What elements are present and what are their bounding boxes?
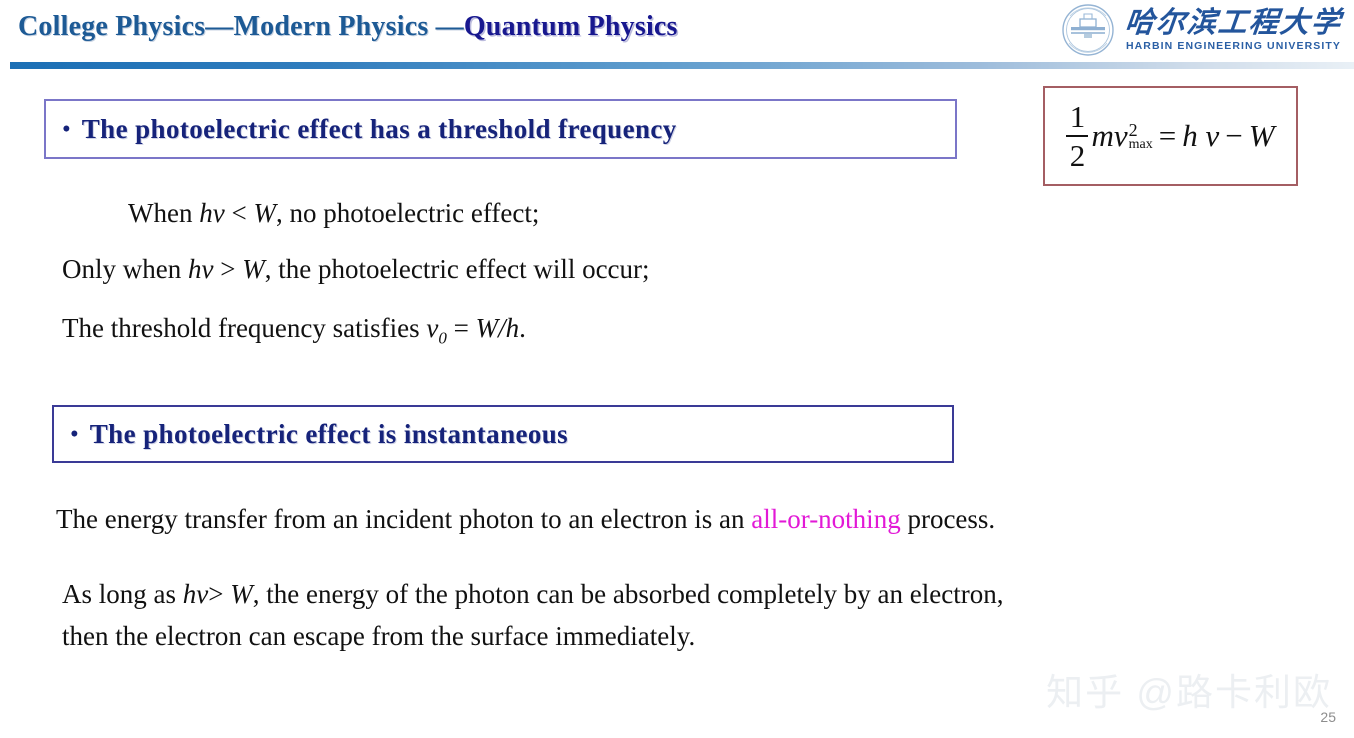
formula-content: 1 2 mv2max = h ν − W bbox=[1066, 101, 1274, 171]
threshold-symbol-w: W bbox=[476, 313, 499, 343]
symbol-mass: m bbox=[1091, 118, 1113, 154]
heading-box-instantaneous: • The photoelectric effect is instantane… bbox=[52, 405, 954, 463]
bullet-icon: • bbox=[70, 422, 79, 447]
heading-box-threshold-frequency: • The photoelectric effect has a thresho… bbox=[44, 99, 957, 159]
symbol-nu: ν bbox=[1205, 118, 1219, 154]
when-symbol-w: W bbox=[253, 198, 276, 228]
header-divider bbox=[10, 62, 1354, 69]
university-name-cn: 哈尔滨工程大学 bbox=[1123, 8, 1343, 38]
bullet-icon: • bbox=[62, 117, 71, 142]
threshold-suffix: . bbox=[519, 313, 526, 343]
threshold-symbol-h: h bbox=[506, 313, 520, 343]
paragraph-absorption-line-2: then the electron can escape from the su… bbox=[62, 620, 695, 652]
velocity-script-group: 2max bbox=[1129, 121, 1153, 152]
page-title: College Physics—Modern Physics —Quantum … bbox=[18, 11, 678, 43]
zhihu-watermark: 知乎 @路卡利欧 bbox=[1046, 662, 1332, 716]
fraction-denominator: 2 bbox=[1070, 139, 1086, 171]
threshold-subscript-zero: 0 bbox=[438, 328, 447, 347]
text-line-when-below-threshold: When hν < W, no photoelectric effect; bbox=[128, 197, 539, 229]
threshold-slash: / bbox=[498, 313, 506, 343]
onlywhen-relation: > bbox=[213, 254, 242, 284]
when-prefix: When bbox=[128, 198, 199, 228]
para2-symbol-nu: ν bbox=[196, 579, 208, 609]
paragraph-energy-transfer: The energy transfer from an incident pho… bbox=[56, 503, 995, 535]
university-logo: 哈尔滨工程大学 HARBIN ENGINEERING UNIVERSITY bbox=[1060, 2, 1342, 58]
para2-suffix: , the energy of the photon can be absorb… bbox=[253, 579, 1004, 609]
threshold-symbol-nu: ν bbox=[426, 313, 438, 343]
page-number: 25 bbox=[1320, 709, 1336, 725]
when-suffix: , no photoelectric effect; bbox=[276, 198, 539, 228]
fraction-bar bbox=[1066, 135, 1088, 137]
when-symbol-nu: ν bbox=[213, 198, 225, 228]
minus-sign: − bbox=[1225, 118, 1242, 154]
onlywhen-prefix: Only when bbox=[62, 254, 188, 284]
university-seal-icon bbox=[1060, 2, 1116, 58]
page-title-accent: Quantum Physics bbox=[464, 11, 678, 42]
university-name-en: HARBIN ENGINEERING UNIVERSITY bbox=[1126, 40, 1341, 52]
onlywhen-symbol-h: h bbox=[188, 254, 202, 284]
formula-box-photoelectric-equation: 1 2 mv2max = h ν − W bbox=[1043, 86, 1298, 186]
para2-prefix: As long as bbox=[62, 579, 183, 609]
slide-header: College Physics—Modern Physics —Quantum … bbox=[0, 0, 1354, 66]
onlywhen-symbol-nu: ν bbox=[201, 254, 213, 284]
threshold-prefix: The threshold frequency satisfies bbox=[62, 313, 426, 343]
heading-box-2-label: The photoelectric effect is instantaneou… bbox=[90, 419, 568, 450]
symbol-velocity: v bbox=[1114, 118, 1128, 154]
when-relation: < bbox=[225, 198, 254, 228]
text-line-threshold-definition: The threshold frequency satisfies ν0 = W… bbox=[62, 312, 526, 349]
equals-sign: = bbox=[1159, 118, 1176, 154]
text-line-only-when-above-threshold: Only when hν > W, the photoelectric effe… bbox=[62, 253, 650, 285]
when-symbol-h: h bbox=[199, 198, 213, 228]
para1-suffix: process. bbox=[901, 504, 995, 534]
fraction-one-half: 1 2 bbox=[1066, 101, 1088, 171]
page-title-primary: College Physics—Modern Physics — bbox=[18, 11, 464, 42]
velocity-exponent: 2 bbox=[1129, 121, 1153, 139]
symbol-work-function: W bbox=[1249, 118, 1275, 154]
threshold-equals: = bbox=[447, 313, 476, 343]
university-logo-text: 哈尔滨工程大学 HARBIN ENGINEERING UNIVERSITY bbox=[1125, 8, 1342, 52]
para2-symbol-w: W bbox=[230, 579, 253, 609]
symbol-planck: h bbox=[1182, 118, 1198, 154]
paragraph-absorption-line-1: As long as hν> W, the energy of the phot… bbox=[62, 578, 1003, 610]
para1-prefix: The energy transfer from an incident pho… bbox=[56, 504, 751, 534]
onlywhen-symbol-w: W bbox=[242, 254, 265, 284]
para2-symbol-h: h bbox=[183, 579, 197, 609]
para1-highlight-all-or-nothing: all-or-nothing bbox=[751, 504, 900, 534]
onlywhen-suffix: , the photoelectric effect will occur; bbox=[265, 254, 650, 284]
fraction-numerator: 1 bbox=[1070, 101, 1086, 133]
heading-box-1-label: The photoelectric effect has a threshold… bbox=[82, 114, 677, 145]
velocity-subscript: max bbox=[1129, 138, 1153, 152]
para2-relation: > bbox=[208, 579, 230, 609]
